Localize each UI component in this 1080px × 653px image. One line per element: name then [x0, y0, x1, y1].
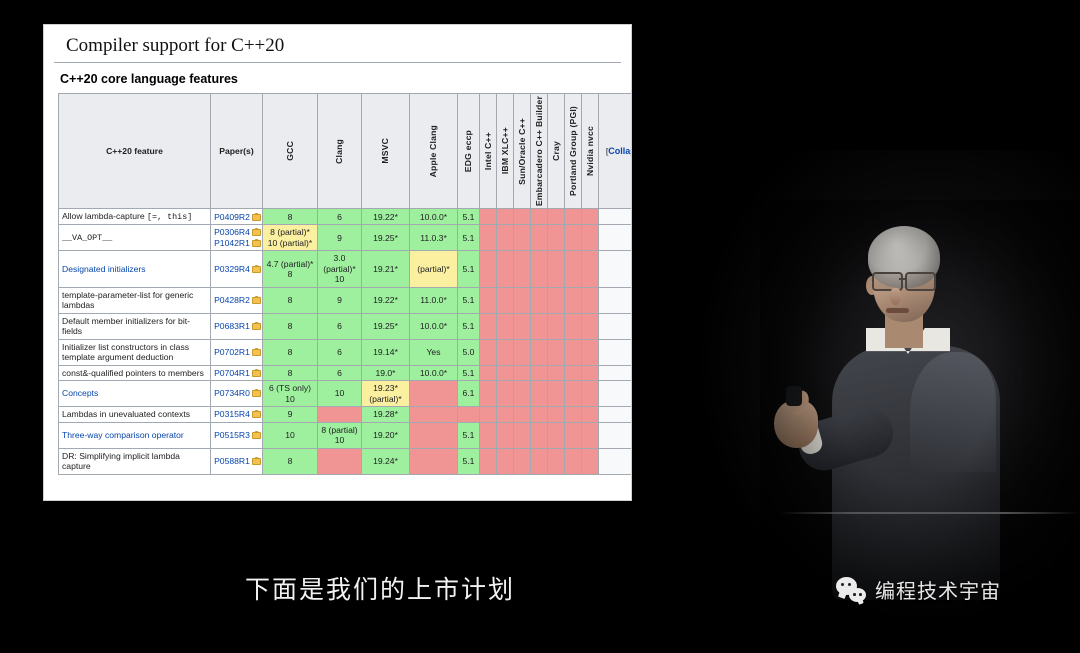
support-cell	[514, 313, 531, 339]
support-cell	[531, 251, 548, 287]
support-cell	[599, 448, 632, 474]
column-header-clang: Clang	[318, 94, 362, 209]
support-cell	[480, 448, 497, 474]
support-cell	[514, 225, 531, 251]
support-cell	[548, 339, 565, 365]
lock-icon	[252, 228, 259, 236]
lock-icon	[252, 389, 259, 397]
support-cell	[318, 448, 362, 474]
support-cell	[599, 365, 632, 380]
table-row: Allow lambda-capture [=, this]P0409R2861…	[59, 209, 632, 225]
support-cell	[582, 422, 599, 448]
feature-cell: template-parameter-list for generic lamb…	[59, 287, 211, 313]
column-header-nvidia-nvcc-label: Nvidia nvcc	[585, 126, 595, 176]
support-cell	[497, 339, 514, 365]
support-cell	[410, 422, 458, 448]
support-cell	[548, 381, 565, 407]
support-cell: 5.1	[458, 365, 480, 380]
feature-cell: Lambdas in unevaluated contexts	[59, 407, 211, 422]
watermark-name: 编程技术宇宙	[875, 575, 1001, 604]
support-cell	[531, 422, 548, 448]
lock-icon	[252, 369, 259, 377]
support-cell	[531, 209, 548, 225]
support-cell: 19.0*	[362, 365, 410, 380]
feature-cell: Default member initializers for bit-fiel…	[59, 313, 211, 339]
table-row: ConceptsP0734R06 (TS only)101019.23* (pa…	[59, 381, 632, 407]
column-header-sun-oracle-cpp: Sun/Oracle C++	[514, 94, 531, 209]
support-cell: 19.28*	[362, 407, 410, 422]
column-header-ibm-xlcpp-label: IBM XLC++	[500, 127, 510, 174]
subtitle-caption: 下面是我们的上市计划	[0, 570, 760, 606]
support-cell: 9	[263, 407, 318, 422]
feature-link[interactable]: Designated initializers	[62, 264, 146, 274]
table-row: Initializer list constructors in class t…	[59, 339, 632, 365]
stage-floor-edge	[780, 512, 1080, 514]
page-title: Compiler support for C++20	[54, 25, 621, 63]
support-cell: 10.0.0*	[410, 365, 458, 380]
support-cell	[531, 339, 548, 365]
feature-cell: __VA_OPT__	[59, 225, 211, 251]
feature-cell: DR: Simplifying implicit lambda capture	[59, 448, 211, 474]
support-cell	[497, 407, 514, 422]
column-header-intel-cpp: Intel C++	[480, 94, 497, 209]
feature-label: Lambdas in unevaluated contexts	[62, 409, 190, 419]
support-cell	[582, 313, 599, 339]
column-header-apple-clang: Apple Clang	[410, 94, 458, 209]
table-row: Default member initializers for bit-fiel…	[59, 313, 632, 339]
lock-icon	[252, 296, 259, 304]
paper-cell: P0428R2	[211, 287, 263, 313]
column-header-cray: Cray	[548, 94, 565, 209]
column-header-msvc-label: MSVC	[380, 138, 390, 164]
support-cell	[480, 313, 497, 339]
paper-link[interactable]: P0734R0	[214, 388, 250, 398]
feature-label: Initializer list constructors in class t…	[62, 342, 189, 362]
support-cell: 10.0.0*	[410, 209, 458, 225]
support-cell	[497, 365, 514, 380]
feature-cell: Designated initializers	[59, 251, 211, 287]
paper-cell: P0329R4	[211, 251, 263, 287]
support-cell: 6.1	[458, 381, 480, 407]
support-cell: 6 (TS only)10	[263, 381, 318, 407]
support-cell: 8	[263, 448, 318, 474]
column-header-cray-label: Cray	[551, 141, 561, 161]
support-cell: 6	[318, 365, 362, 380]
support-cell: 11.0.0*	[410, 287, 458, 313]
support-cell: 19.24*	[362, 448, 410, 474]
lock-icon	[252, 239, 259, 247]
support-cell: 9	[318, 225, 362, 251]
support-cell	[458, 407, 480, 422]
support-cell: 5.1	[458, 422, 480, 448]
support-cell	[599, 339, 632, 365]
support-cell	[582, 209, 599, 225]
paper-cell: P0683R1	[211, 313, 263, 339]
support-cell	[565, 339, 582, 365]
paper-link[interactable]: P1042R1	[214, 238, 250, 248]
paper-cell: P0409R2	[211, 209, 263, 225]
wechat-icon	[836, 577, 866, 602]
watermark: 编程技术宇宙	[836, 575, 1001, 604]
support-cell: 8	[263, 209, 318, 225]
lock-icon	[252, 265, 259, 273]
support-cell	[480, 339, 497, 365]
support-cell: 11.0.3*	[410, 225, 458, 251]
feature-cell: Concepts	[59, 381, 211, 407]
support-cell: 19.14*	[362, 339, 410, 365]
feature-label: Allow lambda-capture	[62, 211, 147, 221]
feature-link[interactable]: Three-way comparison operator	[62, 430, 184, 440]
feature-code-label: __VA_OPT__	[62, 233, 112, 243]
support-cell	[565, 287, 582, 313]
support-cell	[480, 209, 497, 225]
support-cell: 19.25*	[362, 225, 410, 251]
table-row: Three-way comparison operatorP0515R3108 …	[59, 422, 632, 448]
support-cell	[514, 251, 531, 287]
support-cell	[514, 339, 531, 365]
support-cell	[548, 448, 565, 474]
support-cell	[548, 225, 565, 251]
support-cell: 19.20*	[362, 422, 410, 448]
collapse-button[interactable]: [Collapse]	[599, 94, 632, 209]
support-cell	[497, 313, 514, 339]
paper-cell: P0702R1	[211, 339, 263, 365]
section-title: C++20 core language features	[44, 63, 631, 93]
lock-icon	[252, 431, 259, 439]
support-cell	[582, 339, 599, 365]
feature-label: Default member initializers for bit-fiel…	[62, 316, 190, 336]
feature-label: const&-qualified pointers to members	[62, 368, 204, 378]
support-cell	[497, 209, 514, 225]
support-cell	[565, 381, 582, 407]
support-cell: 8 (partial)10	[318, 422, 362, 448]
support-cell	[548, 287, 565, 313]
feature-cell: Three-way comparison operator	[59, 422, 211, 448]
support-cell	[582, 365, 599, 380]
support-cell	[497, 251, 514, 287]
support-cell	[599, 313, 632, 339]
support-cell: 9	[318, 287, 362, 313]
support-cell: 6	[318, 313, 362, 339]
support-cell	[565, 422, 582, 448]
support-cell: 19.25*	[362, 313, 410, 339]
support-cell: 8	[263, 287, 318, 313]
feature-cell: Allow lambda-capture [=, this]	[59, 209, 211, 225]
support-cell	[497, 381, 514, 407]
support-cell: Yes	[410, 339, 458, 365]
table-body: Allow lambda-capture [=, this]P0409R2861…	[59, 209, 632, 474]
feature-cell: Initializer list constructors in class t…	[59, 339, 211, 365]
support-cell: 8 (partial)*10 (partial)*	[263, 225, 318, 251]
table-row: const&-qualified pointers to membersP070…	[59, 365, 632, 380]
support-cell	[497, 287, 514, 313]
support-cell: 6	[318, 209, 362, 225]
column-header-feature: C++20 feature	[59, 94, 211, 209]
support-cell: 5.1	[458, 287, 480, 313]
feature-link[interactable]: Concepts	[62, 388, 98, 398]
paper-cell: P0515R3	[211, 422, 263, 448]
column-header-sun-oracle-cpp-label: Sun/Oracle C++	[517, 118, 527, 185]
paper-cell: P0306R4P1042R1	[211, 225, 263, 251]
table-row: Lambdas in unevaluated contextsP0315R491…	[59, 407, 632, 422]
support-cell	[497, 448, 514, 474]
support-cell	[480, 251, 497, 287]
support-cell	[531, 407, 548, 422]
support-cell: 5.1	[458, 448, 480, 474]
support-cell	[410, 448, 458, 474]
support-cell: 5.1	[458, 251, 480, 287]
support-cell	[480, 287, 497, 313]
support-cell: 5.1	[458, 225, 480, 251]
feature-label: template-parameter-list for generic lamb…	[62, 290, 193, 310]
paper-link[interactable]: P0306R4	[214, 227, 250, 237]
support-cell	[548, 407, 565, 422]
support-cell	[548, 313, 565, 339]
support-cell	[599, 287, 632, 313]
support-cell	[514, 381, 531, 407]
support-cell	[531, 225, 548, 251]
support-cell	[480, 381, 497, 407]
column-header-clang-label: Clang	[334, 139, 344, 164]
support-cell: 8	[263, 365, 318, 380]
paper-cell: P0734R0	[211, 381, 263, 407]
column-header-gcc: GCC	[263, 94, 318, 209]
support-cell	[582, 287, 599, 313]
column-header-pgi: Portland Group (PGI)	[565, 94, 582, 209]
paper-link[interactable]: P0329R4	[214, 264, 250, 274]
support-cell	[599, 251, 632, 287]
support-cell: 8	[263, 313, 318, 339]
support-cell: 4.7 (partial)*8	[263, 251, 318, 287]
support-cell	[480, 225, 497, 251]
table-row: __VA_OPT__P0306R4P1042R18 (partial)*10 (…	[59, 225, 632, 251]
support-cell	[531, 287, 548, 313]
support-cell: 5.1	[458, 313, 480, 339]
paper-link[interactable]: P0515R3	[214, 430, 250, 440]
column-header-gcc-label: GCC	[285, 141, 295, 161]
table-row: Designated initializersP0329R44.7 (parti…	[59, 251, 632, 287]
support-cell: 19.21*	[362, 251, 410, 287]
column-header-msvc: MSVC	[362, 94, 410, 209]
support-cell	[514, 209, 531, 225]
column-header-pgi-label: Portland Group (PGI)	[568, 106, 578, 196]
support-cell	[599, 422, 632, 448]
collapse-label[interactable]: Collapse	[608, 146, 631, 156]
table-header: C++20 feature Paper(s) GCC Clang MSVC Ap…	[59, 94, 632, 209]
column-header-embarcadero-label: Embarcadero C++ Builder	[534, 96, 544, 206]
paper-link[interactable]: P0409R2	[214, 212, 250, 222]
support-cell	[410, 407, 458, 422]
feature-label: DR: Simplifying implicit lambda capture	[62, 451, 180, 471]
paper-link[interactable]: P0588R1	[214, 456, 250, 466]
column-header-ibm-xlcpp: IBM XLC++	[497, 94, 514, 209]
support-cell: 6	[318, 339, 362, 365]
lock-icon	[252, 213, 259, 221]
support-cell	[480, 422, 497, 448]
support-cell	[565, 365, 582, 380]
feature-code-label: [=, this]	[147, 212, 192, 222]
support-cell: 5.0	[458, 339, 480, 365]
support-cell	[599, 209, 632, 225]
lock-icon	[252, 410, 259, 418]
support-cell	[497, 225, 514, 251]
paper-link[interactable]: P0704R1	[214, 368, 250, 378]
support-cell	[497, 422, 514, 448]
lock-icon	[252, 348, 259, 356]
column-header-edg-eccp-label: EDG eccp	[463, 130, 473, 172]
support-cell	[582, 407, 599, 422]
support-cell	[565, 313, 582, 339]
support-cell	[599, 407, 632, 422]
column-header-nvidia-nvcc: Nvidia nvcc	[582, 94, 599, 209]
support-cell	[565, 225, 582, 251]
paper-link[interactable]: P0428R2	[214, 295, 250, 305]
presenter-figure	[760, 200, 1080, 600]
column-header-edg-eccp: EDG eccp	[458, 94, 480, 209]
support-cell	[548, 251, 565, 287]
support-cell	[565, 251, 582, 287]
support-cell	[599, 381, 632, 407]
support-cell	[531, 448, 548, 474]
compiler-support-table: C++20 feature Paper(s) GCC Clang MSVC Ap…	[58, 93, 631, 475]
column-header-papers: Paper(s)	[211, 94, 263, 209]
support-cell: 3.0 (partial)*10	[318, 251, 362, 287]
column-header-intel-cpp-label: Intel C++	[483, 132, 493, 170]
presenter-photo	[760, 200, 1080, 600]
support-cell	[548, 365, 565, 380]
support-cell: 19.22*	[362, 209, 410, 225]
support-cell	[565, 448, 582, 474]
table-row: template-parameter-list for generic lamb…	[59, 287, 632, 313]
lock-icon	[252, 322, 259, 330]
support-cell	[582, 251, 599, 287]
paper-link[interactable]: P0683R1	[214, 321, 250, 331]
support-cell	[531, 381, 548, 407]
paper-cell: P0704R1	[211, 365, 263, 380]
column-header-apple-clang-label: Apple Clang	[428, 125, 438, 177]
table-row: DR: Simplifying implicit lambda captureP…	[59, 448, 632, 474]
support-cell	[582, 448, 599, 474]
support-cell: 10	[263, 422, 318, 448]
support-cell	[410, 381, 458, 407]
feature-cell: const&-qualified pointers to members	[59, 365, 211, 380]
support-cell: 8	[263, 339, 318, 365]
support-cell: 19.22*	[362, 287, 410, 313]
support-cell: 5.1	[458, 209, 480, 225]
support-cell	[480, 407, 497, 422]
support-cell: 10.0.0*	[410, 313, 458, 339]
support-cell	[531, 365, 548, 380]
support-cell	[514, 422, 531, 448]
table-header-row: C++20 feature Paper(s) GCC Clang MSVC Ap…	[59, 94, 632, 209]
support-cell	[582, 381, 599, 407]
support-cell	[514, 448, 531, 474]
support-cell	[514, 287, 531, 313]
paper-cell: P0588R1	[211, 448, 263, 474]
support-cell	[514, 407, 531, 422]
support-cell: (partial)*	[410, 251, 458, 287]
support-cell	[582, 225, 599, 251]
support-cell: 19.23* (partial)*	[362, 381, 410, 407]
support-cell	[318, 407, 362, 422]
support-cell	[599, 225, 632, 251]
photo-vignette	[760, 200, 1080, 600]
paper-cell: P0315R4	[211, 407, 263, 422]
support-cell	[565, 407, 582, 422]
paper-link[interactable]: P0315R4	[214, 409, 250, 419]
support-cell: 10	[318, 381, 362, 407]
support-cell	[548, 209, 565, 225]
support-cell	[548, 422, 565, 448]
lock-icon	[252, 457, 259, 465]
support-cell	[531, 313, 548, 339]
paper-link[interactable]: P0702R1	[214, 347, 250, 357]
support-cell	[565, 209, 582, 225]
support-cell	[480, 365, 497, 380]
slide-screenshot: Compiler support for C++20 C++20 core la…	[44, 25, 631, 500]
support-cell	[514, 365, 531, 380]
column-header-embarcadero: Embarcadero C++ Builder	[531, 94, 548, 209]
